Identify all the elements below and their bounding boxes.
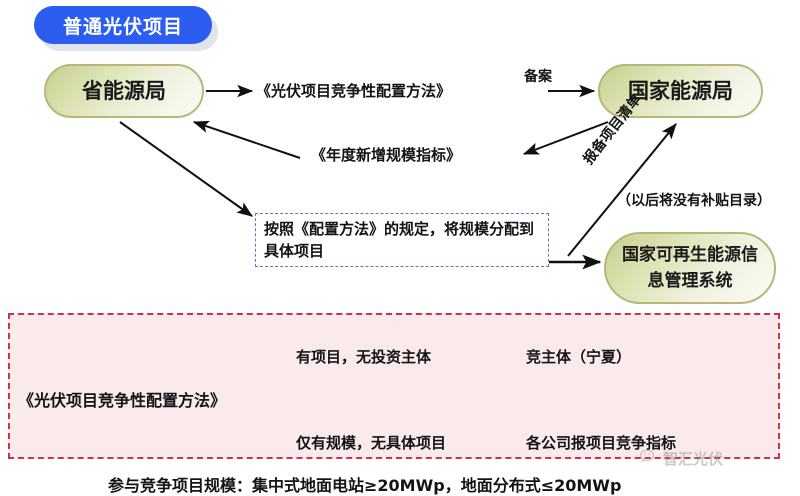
- competition-section-title: 《光伏项目竞争性配置方法》: [18, 387, 226, 411]
- watermark-text: 智汇光伏: [663, 448, 723, 469]
- watermark: 智汇光伏: [640, 448, 723, 469]
- edge-label-method-doc: 《光伏项目竞争性配置方法》: [256, 80, 451, 101]
- node-renewable-info-system-label: 国家可再生能源信 息管理系统: [610, 242, 770, 295]
- node-province-energy-bureau[interactable]: 省能源局: [44, 64, 204, 118]
- edge-label-filing: 备案: [524, 66, 552, 86]
- allocation-dashed-box: 按照《配置方法》的规定，将规模分配到具体项目: [255, 213, 549, 267]
- branch-result-1: 竞主体（宁夏）: [526, 346, 631, 367]
- bottom-caption: 参与竞争项目规模：集中式地面电站≥20MWp，地面分布式≤20MWp: [108, 472, 621, 496]
- title-banner: 普通光伏项目: [34, 6, 212, 44]
- title-banner-label: 普通光伏项目: [63, 12, 183, 39]
- arrow-province-to-allocation: [120, 122, 252, 216]
- note-no-subsidy-catalog: （以后将没有补贴目录）: [617, 190, 771, 210]
- allocation-dashed-box-text: 按照《配置方法》的规定，将规模分配到具体项目: [264, 219, 542, 263]
- branch-condition-1: 有项目，无投资主体: [296, 346, 431, 367]
- diagram-canvas: 普通光伏项目 省能源局 国家能源局 国家可再生能源信 息管理系统 《光伏项目竞争…: [0, 0, 800, 496]
- wechat-icon: [640, 449, 658, 469]
- branch-condition-2: 仅有规模，无具体项目: [296, 432, 446, 453]
- edge-label-annual-scale: 《年度新增规模指标》: [311, 144, 461, 165]
- node-province-energy-bureau-label: 省能源局: [82, 77, 166, 105]
- node-renewable-info-system[interactable]: 国家可再生能源信 息管理系统: [604, 232, 776, 304]
- arrow-annual-to-province: [194, 122, 300, 158]
